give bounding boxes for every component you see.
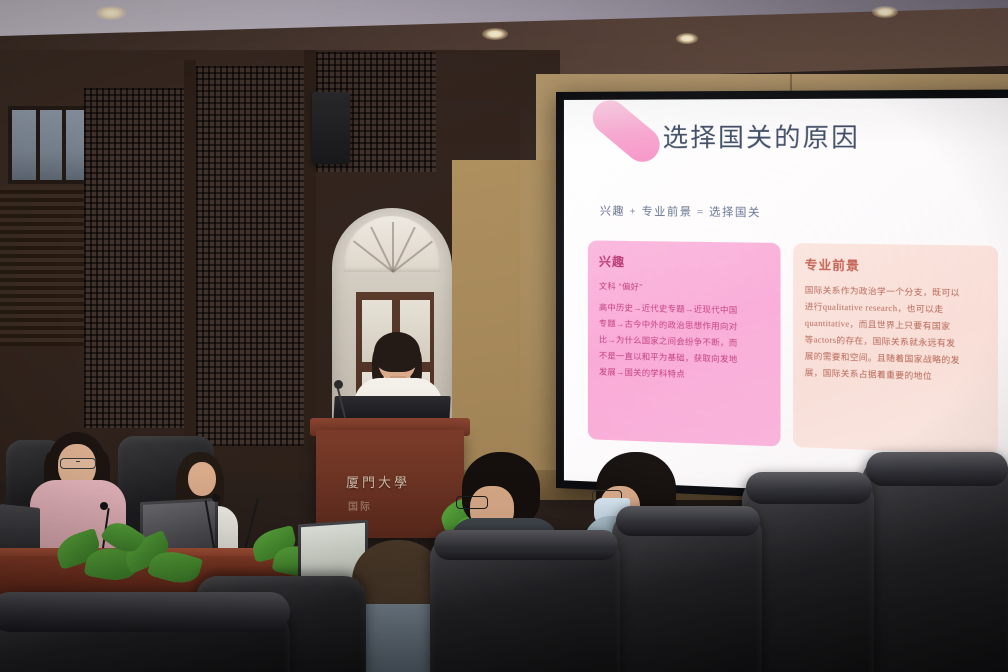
lattice-frame bbox=[184, 60, 196, 452]
wall-speaker bbox=[312, 92, 350, 164]
slide-cards: 兴趣 文科 "偏好" 高中历史→近代史专题→近现代中国 专题→古今中外的政治思想… bbox=[588, 240, 1003, 454]
ceiling-light-icon bbox=[482, 28, 508, 40]
lattice-wall-panel bbox=[84, 88, 184, 428]
tan-wall-left-return bbox=[452, 160, 562, 490]
wooden-shutter bbox=[0, 186, 97, 346]
upper-window bbox=[8, 106, 88, 184]
presentation-slide: 选择国关的原因 兴趣 + 专业前景 = 选择国关 兴趣 文科 "偏好" 高中历史… bbox=[564, 98, 1008, 500]
audience-chair bbox=[862, 458, 1008, 672]
ceiling-light-icon bbox=[676, 33, 698, 44]
glasses-icon bbox=[456, 496, 488, 509]
audience-chair-headrest bbox=[866, 452, 1008, 486]
audience-chair-headrest bbox=[434, 530, 618, 560]
card-line: 发展→国关的学科特点 bbox=[599, 364, 769, 385]
slide-card-prospects: 专业前景 国际关系作为政治学一个分支，既可以 进行qualitative res… bbox=[793, 243, 998, 455]
projection-screen-frame: 选择国关的原因 兴趣 + 专业前景 = 选择国关 兴趣 文科 "偏好" 高中历史… bbox=[556, 89, 1008, 509]
presenter-hair bbox=[374, 332, 420, 372]
microphone-icon bbox=[212, 494, 220, 502]
audience-chair-headrest bbox=[746, 472, 872, 504]
pink-decor-shape-icon bbox=[586, 98, 667, 169]
panelist-face bbox=[188, 462, 216, 496]
window-mullion bbox=[62, 110, 66, 180]
lecture-hall-photo: 选择国关的原因 兴趣 + 专业前景 = 选择国关 兴趣 文科 "偏好" 高中历史… bbox=[0, 0, 1008, 672]
audience-chair-headrest bbox=[0, 592, 290, 632]
glasses-icon bbox=[60, 458, 96, 469]
lattice-wall-panel bbox=[196, 66, 304, 446]
window-mullion bbox=[36, 110, 40, 180]
audience-chair-headrest bbox=[616, 506, 760, 536]
microphone-icon bbox=[334, 380, 343, 389]
card-line: 文科 "偏好" bbox=[599, 279, 769, 298]
ceiling-light-icon bbox=[96, 6, 126, 20]
venue-name-label: 厦門大學 bbox=[346, 472, 456, 491]
card-heading: 专业前景 bbox=[805, 256, 986, 277]
slide-subtitle: 兴趣 + 专业前景 = 选择国关 bbox=[600, 202, 761, 220]
card-heading: 兴趣 bbox=[599, 253, 769, 273]
slide-card-interest: 兴趣 文科 "偏好" 高中历史→近代史专题→近现代中国 专题→古今中外的政治思想… bbox=[588, 240, 781, 446]
venue-subtitle-label: 国际 bbox=[348, 498, 458, 513]
slide-title: 选择国关的原因 bbox=[663, 117, 860, 154]
microphone-icon bbox=[100, 502, 108, 510]
audience-chair bbox=[612, 512, 762, 672]
ceiling-light-icon bbox=[872, 6, 898, 18]
